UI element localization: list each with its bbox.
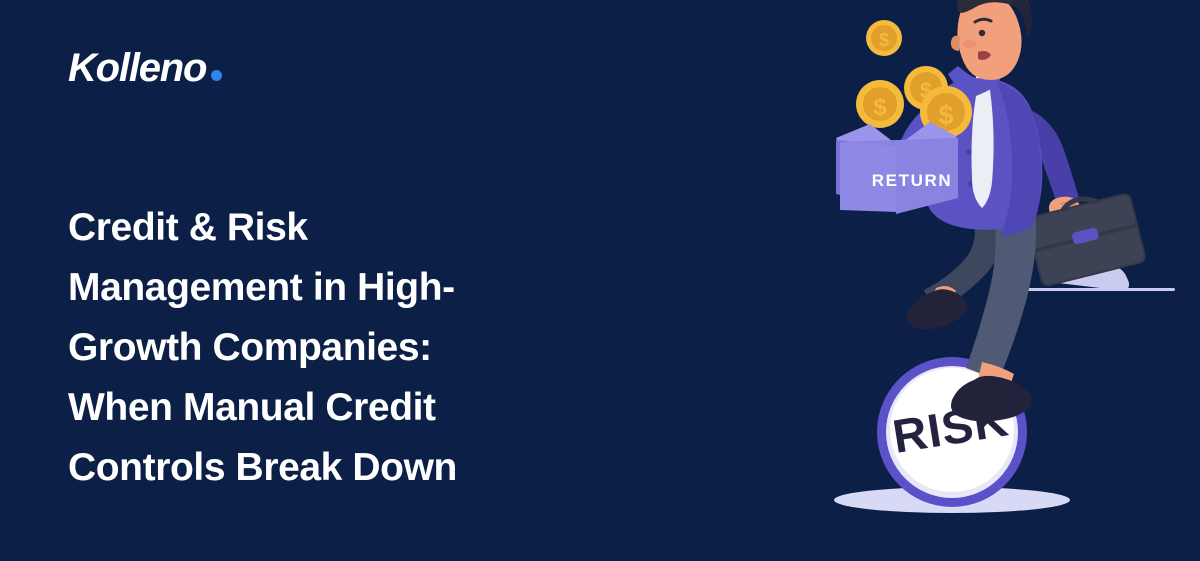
head <box>951 0 1033 80</box>
kolleno-logo[interactable]: Kolleno <box>68 48 222 88</box>
briefcase-icon <box>1025 187 1146 286</box>
hero-illustration: RISK <box>640 0 1200 561</box>
logo-wordmark: Kolleno <box>68 48 206 88</box>
return-box-label: RETURN <box>872 171 952 190</box>
coin: $ <box>866 20 902 56</box>
svg-text:$: $ <box>938 100 953 130</box>
return-box-with-coins: $ $ $ $ <box>836 20 972 214</box>
hero-banner: Kolleno Credit & Risk Management in High… <box>0 0 1200 561</box>
logo-dot-icon <box>211 70 222 81</box>
svg-text:$: $ <box>879 30 889 50</box>
coin: $ <box>856 80 904 128</box>
svg-text:$: $ <box>873 94 887 121</box>
page-title: Credit & Risk Management in High-Growth … <box>68 198 538 498</box>
